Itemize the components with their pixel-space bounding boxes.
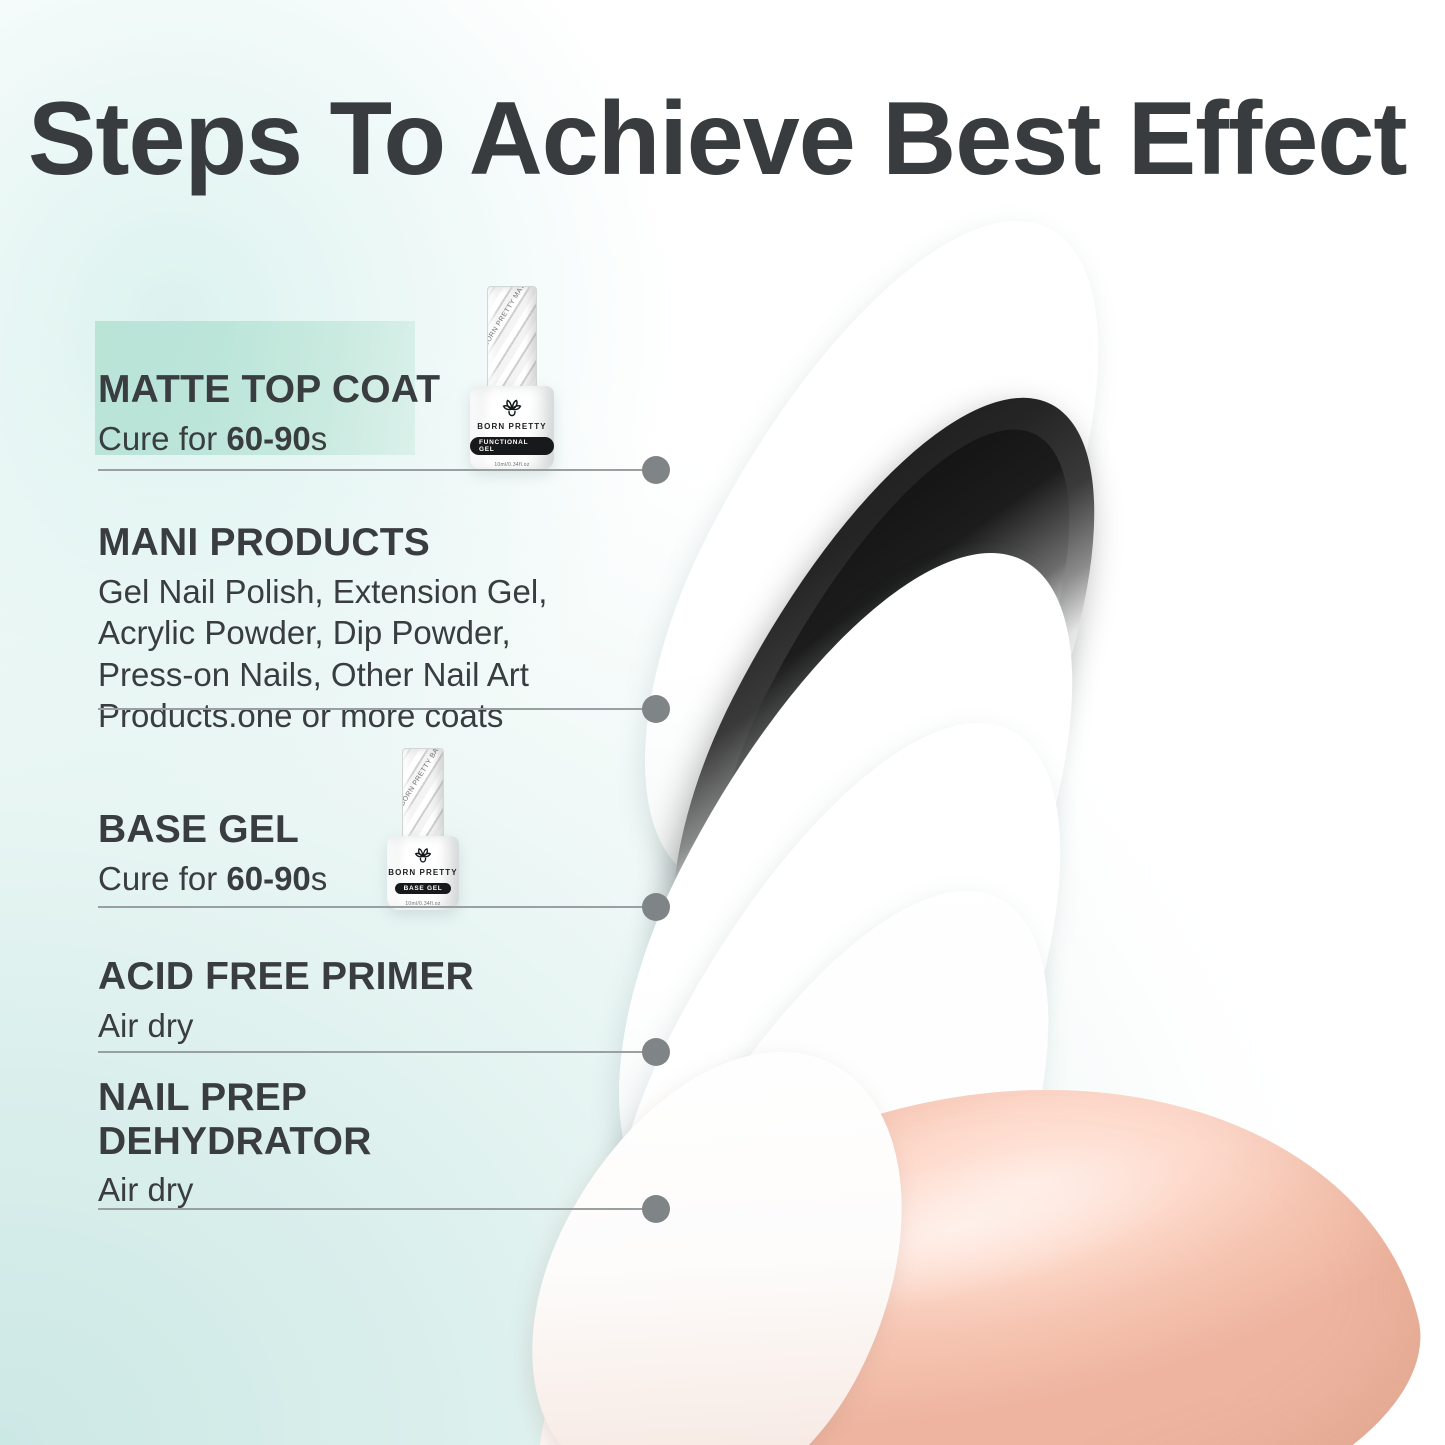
connector-nail-prep-dehydrator [98, 1195, 670, 1223]
bottle-brand: BORN PRETTY [477, 422, 546, 431]
connector-dot [642, 893, 670, 921]
step-title-nail-prep-dehydrator: NAIL PREP DEHYDRATOR [98, 1076, 372, 1163]
connector-line [98, 1051, 646, 1053]
connector-dot [642, 1038, 670, 1066]
connector-dot [642, 695, 670, 723]
connector-mani-products [98, 695, 670, 723]
step-sub-prefix: Cure for [98, 420, 226, 457]
step-sub-strong: 60-90 [226, 420, 310, 457]
connector-acid-free-primer [98, 1038, 670, 1066]
step-title-matte-top-coat: MATTE TOP COAT [98, 368, 440, 412]
step-title-mani-products: MANI PRODUCTS [98, 521, 547, 565]
connector-line [98, 906, 646, 908]
step-base-gel[interactable]: BASE GEL Cure for 60-90s [98, 808, 327, 899]
connector-dot [642, 1195, 670, 1223]
step-title-base-gel: BASE GEL [98, 808, 327, 852]
step-nail-prep-dehydrator[interactable]: NAIL PREP DEHYDRATOR Air dry [98, 1076, 372, 1211]
connector-line [98, 1208, 646, 1210]
connector-line [98, 708, 646, 710]
connector-matte-top-coat [98, 456, 670, 484]
connector-base-gel [98, 893, 670, 921]
bottle-cap-text: BORN PRETTY MATTE TOP COAT [487, 286, 537, 349]
born-pretty-flower-logo-icon [497, 395, 527, 419]
poster-canvas: Steps To Achieve Best Effect MATTE TOP C… [0, 0, 1445, 1445]
born-pretty-flower-logo-icon [410, 844, 436, 865]
step-sub-strong: 60-90 [226, 860, 310, 897]
step-acid-free-primer[interactable]: ACID FREE PRIMER Air dry [98, 955, 474, 1046]
page-title: Steps To Achieve Best Effect [28, 86, 1407, 192]
step-sub-matte-top-coat: Cure for 60-90s [98, 418, 440, 460]
bottle-cap-text: BORN PRETTY BASE GEL [402, 748, 444, 811]
connector-dot [642, 456, 670, 484]
step-matte-top-coat[interactable]: MATTE TOP COAT Cure for 60-90s [98, 368, 440, 459]
step-sub-suffix: s [311, 860, 328, 897]
matte-top-coat-bottle: BORN PRETTY MATTE TOP COAT BORN PRETTY F… [462, 286, 562, 468]
step-title-acid-free-primer: ACID FREE PRIMER [98, 955, 474, 999]
bottle-label-badge: FUNCTIONAL GEL [470, 437, 554, 455]
connector-line [98, 469, 646, 471]
step-sub-suffix: s [311, 420, 328, 457]
step-sub-prefix: Cure for [98, 860, 226, 897]
bottle-brand: BORN PRETTY [388, 868, 457, 877]
base-gel-bottle: BORN PRETTY BASE GEL BORN PRETTY BASE GE… [380, 748, 466, 908]
